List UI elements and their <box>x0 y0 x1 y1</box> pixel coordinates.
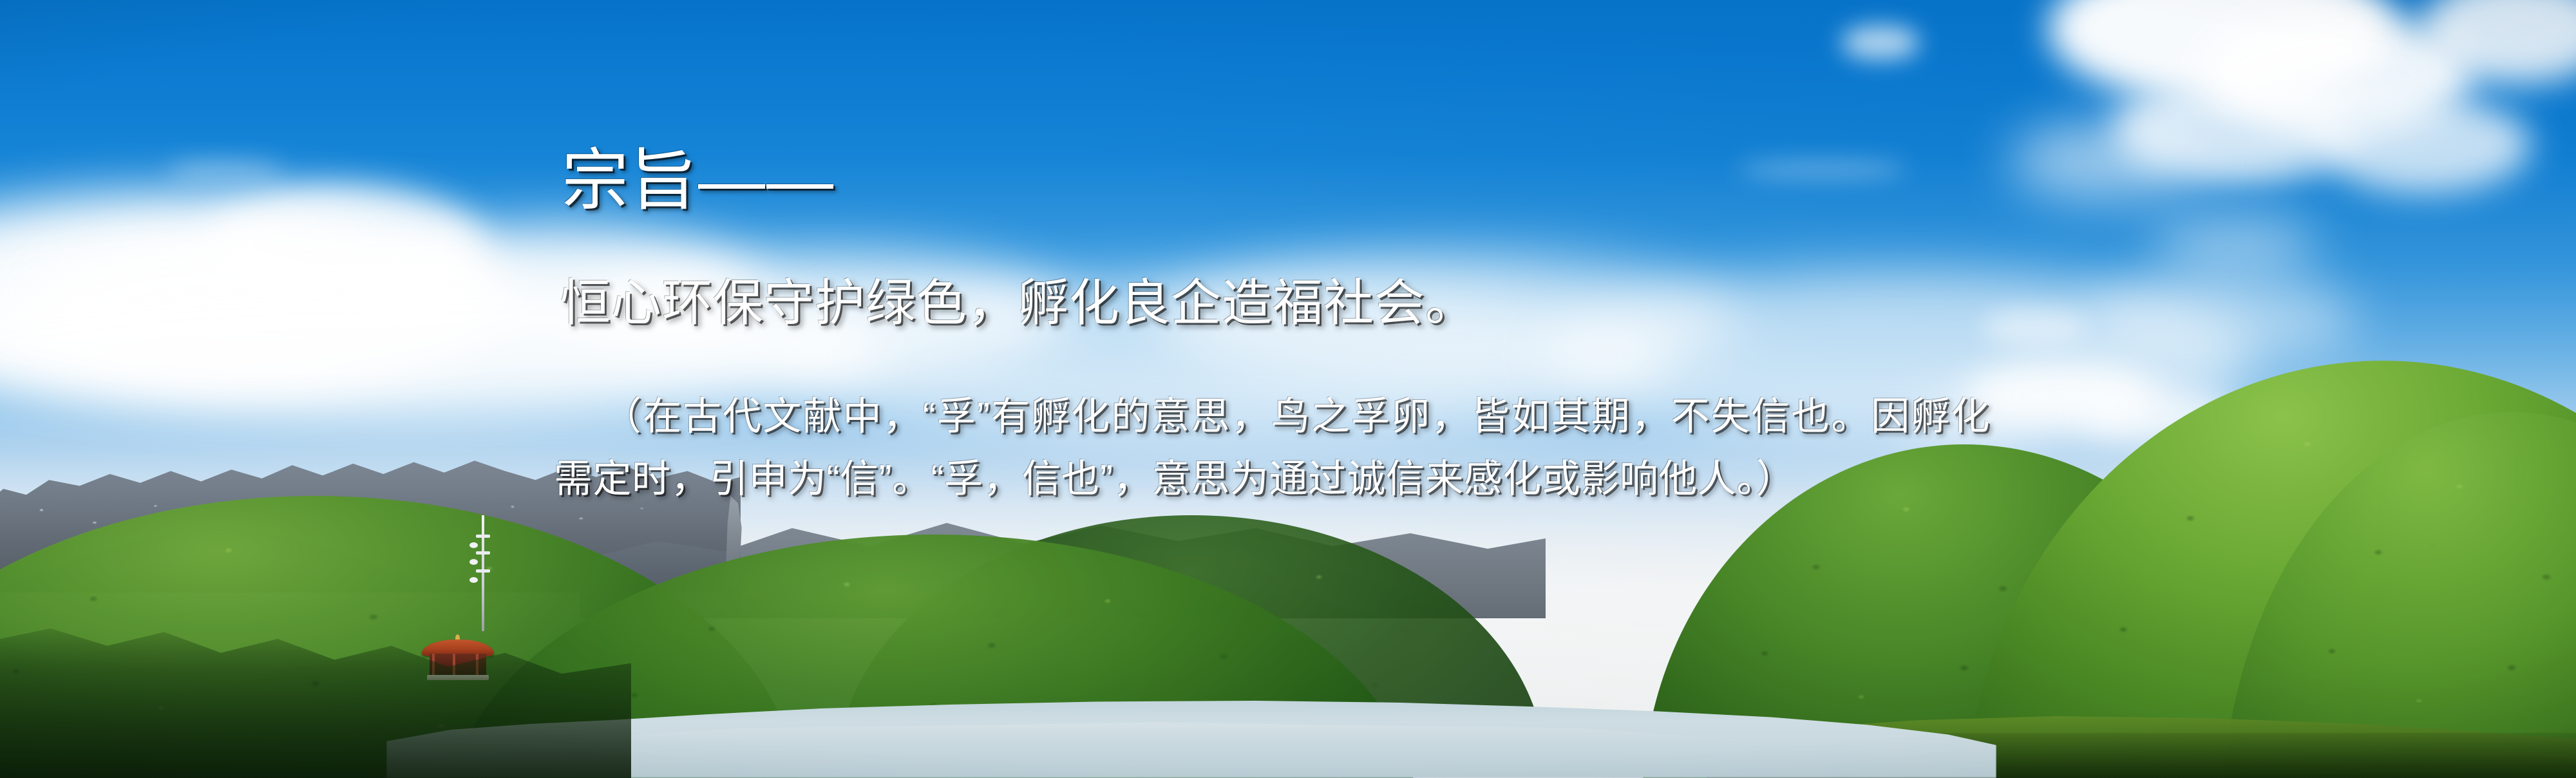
cloud-shape <box>2151 213 2318 274</box>
tower-arm <box>476 569 490 573</box>
cloud-streak <box>2190 161 2331 175</box>
cloud-shape <box>2009 122 2202 200</box>
tower-arm <box>476 551 490 555</box>
cloud-puff <box>1984 309 2087 345</box>
antenna-tower <box>480 515 486 631</box>
tower-mast <box>482 515 484 631</box>
tower-dish <box>469 559 478 565</box>
cloud-streak <box>167 161 283 180</box>
cloud-puff <box>1842 26 1919 59</box>
hero-banner: 宗旨—— 恒心环保守护绿色，孵化良企造福社会。 （在古代文献中，“孚”有孵化的意… <box>0 0 2576 778</box>
cloud-shape <box>2318 97 2531 193</box>
tower-dish <box>469 542 478 548</box>
tower-arm <box>476 535 490 538</box>
cloud-shape <box>2087 277 2357 361</box>
slogan-note-text: （在古代文献中，“孚”有孵化的意思，鸟之孚卵，皆如其期，不失信也。因孵化需定时，… <box>554 385 1990 510</box>
slogan-text: 恒心环保守护绿色，孵化良企造福社会。 <box>560 277 1476 330</box>
page-title: 宗旨—— <box>562 147 835 215</box>
cloud-streak <box>1739 161 1906 178</box>
tower-dish <box>469 577 478 583</box>
